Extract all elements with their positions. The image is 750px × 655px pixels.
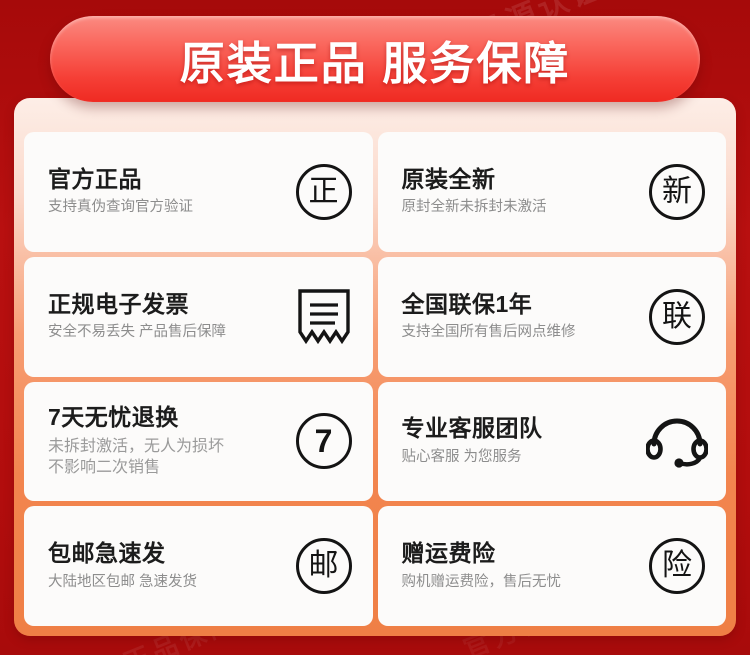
card-subtitle-line: 支持全国所有售后网点维修 <box>402 323 639 343</box>
card-text-block: 赠运费险购机赠运费险，售后无忧 <box>402 540 639 592</box>
card-subtitle-line: 未拆封激活，无人为损坏 <box>48 437 285 458</box>
icon-glyph: 联 <box>649 289 705 345</box>
guarantee-card: 专业客服团队贴心客服 为您服务 <box>378 382 727 502</box>
card-subtitle: 大陆地区包邮 急速发货 <box>48 573 285 593</box>
circled-lian-icon: 联 <box>646 286 708 348</box>
icon-glyph: 7 <box>296 413 352 469</box>
card-title: 7天无忧退换 <box>48 404 285 430</box>
card-title: 官方正品 <box>48 166 285 192</box>
guarantee-panel: 官方正品支持真伪查询官方验证正原装全新原封全新未拆封未激活新正规电子发票安全不易… <box>14 98 736 636</box>
card-subtitle: 未拆封激活，无人为损坏不影响二次销售 <box>48 437 285 479</box>
card-text-block: 原装全新原封全新未拆封未激活 <box>402 166 639 218</box>
card-subtitle: 安全不易丢失 产品售后保障 <box>48 323 285 343</box>
guarantee-card: 官方正品支持真伪查询官方验证正 <box>24 132 373 252</box>
card-title: 专业客服团队 <box>402 415 639 441</box>
header-title: 原装正品 服务保障 <box>180 27 571 92</box>
card-text-block: 全国联保1年支持全国所有售后网点维修 <box>402 291 639 343</box>
card-subtitle-line: 购机赠运费险，售后无忧 <box>402 573 639 593</box>
guarantee-card: 原装全新原封全新未拆封未激活新 <box>378 132 727 252</box>
card-title: 全国联保1年 <box>402 291 639 317</box>
guarantee-card: 7天无忧退换未拆封激活，无人为损坏不影响二次销售7 <box>24 382 373 502</box>
icon-glyph: 险 <box>649 538 705 594</box>
icon-glyph: 新 <box>649 164 705 220</box>
card-subtitle-line: 原封全新未拆封未激活 <box>402 198 639 218</box>
card-title: 原装全新 <box>402 166 639 192</box>
guarantee-card: 包邮急速发大陆地区包邮 急速发货邮 <box>24 506 373 626</box>
circled-xian-icon: 险 <box>646 535 708 597</box>
card-title: 正规电子发票 <box>48 291 285 317</box>
guarantee-card: 全国联保1年支持全国所有售后网点维修联 <box>378 257 727 377</box>
card-subtitle: 购机赠运费险，售后无忧 <box>402 573 639 593</box>
circled-xin-icon: 新 <box>646 161 708 223</box>
card-subtitle-line: 支持真伪查询官方验证 <box>48 198 285 218</box>
card-subtitle: 支持全国所有售后网点维修 <box>402 323 639 343</box>
icon-glyph: 邮 <box>296 538 352 594</box>
circled-seven-icon: 7 <box>293 410 355 472</box>
card-subtitle: 原封全新未拆封未激活 <box>402 198 639 218</box>
card-subtitle: 支持真伪查询官方验证 <box>48 198 285 218</box>
card-text-block: 正规电子发票安全不易丢失 产品售后保障 <box>48 291 285 343</box>
card-subtitle-line: 安全不易丢失 产品售后保障 <box>48 323 285 343</box>
guarantee-card: 赠运费险购机赠运费险，售后无忧险 <box>378 506 727 626</box>
headset-support-icon <box>646 410 708 472</box>
guarantee-card-grid: 官方正品支持真伪查询官方验证正原装全新原封全新未拆封未激活新正规电子发票安全不易… <box>24 132 726 626</box>
card-title: 赠运费险 <box>402 540 639 566</box>
receipt-invoice-icon <box>293 286 355 348</box>
card-text-block: 专业客服团队贴心客服 为您服务 <box>402 415 639 467</box>
card-text-block: 官方正品支持真伪查询官方验证 <box>48 166 285 218</box>
circled-zheng-icon: 正 <box>293 161 355 223</box>
card-subtitle-line: 贴心客服 为您服务 <box>402 448 639 468</box>
card-subtitle-line: 大陆地区包邮 急速发货 <box>48 573 285 593</box>
header-banner: 原装正品 服务保障 <box>50 16 700 102</box>
icon-glyph: 正 <box>296 164 352 220</box>
promo-page: 民源认证 正品保障 官方验证 原装正品 服务保障 官方正品支持真伪查询官方验证正… <box>0 0 750 655</box>
card-text-block: 包邮急速发大陆地区包邮 急速发货 <box>48 540 285 592</box>
card-text-block: 7天无忧退换未拆封激活，无人为损坏不影响二次销售 <box>48 404 285 478</box>
guarantee-card: 正规电子发票安全不易丢失 产品售后保障 <box>24 257 373 377</box>
card-subtitle: 贴心客服 为您服务 <box>402 448 639 468</box>
card-title: 包邮急速发 <box>48 540 285 566</box>
card-subtitle-line: 不影响二次销售 <box>48 458 285 479</box>
circled-you-icon: 邮 <box>293 535 355 597</box>
